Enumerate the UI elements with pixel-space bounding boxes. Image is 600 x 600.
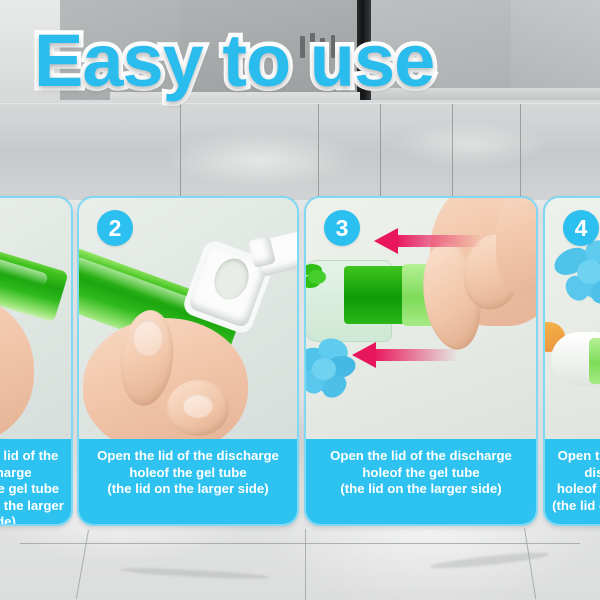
step-caption-3: Open the lid of the discharge holeof the… (306, 439, 536, 524)
step-panel-3[interactable]: 3 Open the lid of the discharge holeof t… (304, 196, 538, 526)
step-panel-1[interactable]: 1 Open the lid of the discharge holeof t… (0, 196, 73, 526)
step-caption-1: Open the lid of the discharge holeof the… (0, 439, 71, 524)
step-1-photo (0, 198, 71, 439)
tile-seam-1 (180, 104, 181, 200)
tile-seam-5 (520, 104, 521, 200)
step-number-badge-3: 3 (324, 210, 360, 246)
step-panel-2[interactable]: 2 Open the lid of the discharge holeof t… (77, 196, 299, 526)
tile-seam-horizontal (0, 103, 600, 104)
arrow-left-upper-icon (374, 228, 482, 254)
fingernail-lower (183, 394, 213, 418)
wall-mid-tiles (0, 100, 600, 200)
step-caption-2: Open the lid of the discharge holeof the… (79, 439, 297, 524)
step-number-badge-2: 2 (97, 210, 133, 246)
floor-grout-line-2 (305, 529, 306, 600)
step-number-badge-4: 4 (563, 210, 599, 246)
tile-seam-2 (318, 104, 319, 200)
arrow-left-lower-icon (352, 342, 458, 368)
green-gel (344, 266, 406, 324)
step-caption-4: Open the lid of the discharge holeof the… (545, 439, 600, 524)
floor-grout-line-1 (20, 543, 580, 544)
step-panel-4[interactable]: 4 Open the lid of the discharge holeof t… (543, 196, 600, 526)
tile-seam-4 (452, 104, 453, 200)
thumbnail (133, 320, 163, 356)
page-title: Easy to use (34, 24, 434, 98)
step-panel-strip: 1 Open the lid of the discharge holeof t… (0, 196, 600, 526)
dispenser-neck (589, 338, 600, 384)
tile-seam-3 (380, 104, 381, 200)
